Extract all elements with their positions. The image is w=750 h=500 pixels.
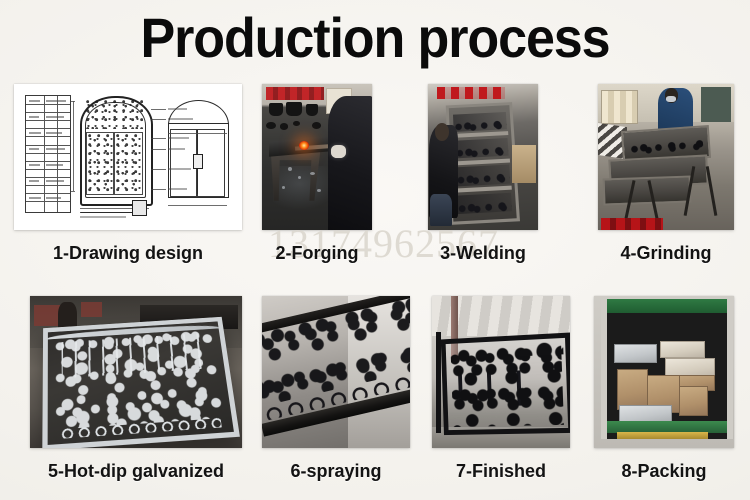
welding-image <box>428 84 538 230</box>
caption-finished: 7-Finished <box>428 460 574 482</box>
step-photo-spraying[interactable] <box>262 296 410 448</box>
cad-drawing-image <box>14 84 242 230</box>
step-photo-welding[interactable] <box>428 84 538 230</box>
step-photo-finished[interactable] <box>432 296 570 448</box>
caption-forging: 2-Forging <box>252 242 382 264</box>
step-photo-forging[interactable] <box>262 84 372 230</box>
caption-welding: 3-Welding <box>418 242 548 264</box>
caption-drawing-design: 1-Drawing design <box>14 242 242 264</box>
step-photo-grinding[interactable] <box>598 84 734 230</box>
caption-grinding: 4-Grinding <box>598 242 734 264</box>
step-photo-drawing-design[interactable] <box>14 84 242 230</box>
finished-gate-image <box>432 296 570 448</box>
page-title: Production process <box>26 6 724 70</box>
caption-hot-dip-galvanized: 5-Hot-dip galvanized <box>18 460 254 482</box>
production-process-poster: Production process 13174962567 <box>0 0 750 500</box>
packing-image <box>594 296 734 448</box>
step-photo-hot-dip-galvanized[interactable] <box>30 296 242 448</box>
spraying-image <box>262 296 410 448</box>
forging-image <box>262 84 372 230</box>
grinding-image <box>598 84 734 230</box>
caption-packing: 8-Packing <box>590 460 738 482</box>
step-photo-packing[interactable] <box>594 296 734 448</box>
hot-dip-galvanized-image <box>30 296 242 448</box>
caption-spraying: 6-spraying <box>256 460 416 482</box>
